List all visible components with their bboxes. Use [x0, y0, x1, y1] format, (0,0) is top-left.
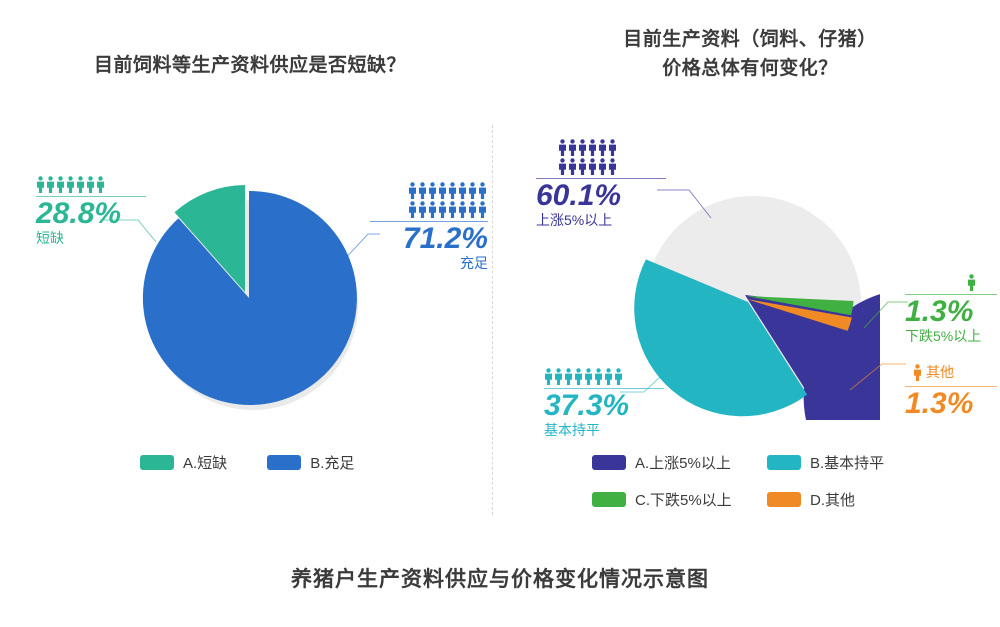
legend-item-increase[interactable]: A.上涨5%以上 [592, 452, 767, 473]
person-icon [594, 368, 603, 385]
person-icon [86, 176, 95, 193]
left-pie-svg [135, 180, 365, 415]
person-icon [574, 368, 583, 385]
person-icon [578, 158, 587, 175]
callout-percent: 1.3% [905, 389, 997, 419]
right-chart-title-line1: 目前生产资料（饲料、仔猪） [530, 26, 970, 55]
person-icon [418, 201, 427, 218]
person-icon [598, 158, 607, 175]
callout-sublabel: 上涨5%以上 [536, 211, 666, 231]
person-icon [588, 139, 597, 156]
person-icon [554, 368, 563, 385]
legend-swatch-increase [592, 455, 626, 470]
right-chart-title: 目前生产资料（饲料、仔猪） 价格总体有何变化？ [530, 26, 970, 83]
legend-item-other[interactable]: D.其他 [767, 489, 942, 510]
leader-line-sufficient [340, 228, 382, 264]
person-icon [568, 158, 577, 175]
legend-swatch-sufficient [267, 455, 301, 470]
legend-row: C.下跌5%以上 D.其他 [592, 489, 942, 510]
legend-label-sufficient: B.充足 [310, 452, 354, 473]
person-icon [544, 368, 553, 385]
person-icon [598, 139, 607, 156]
leader-line-shortage [98, 218, 158, 252]
left-pie-chart [135, 180, 365, 415]
person-icon [448, 182, 457, 199]
callout-sublabel: 下跌5%以上 [905, 327, 997, 347]
callout-rule [905, 386, 997, 387]
person-icon [408, 201, 417, 218]
infographic-canvas: 目前饲料等生产资料供应是否短缺？ 目前生产资料（饲料、仔猪） 价格总体有何变化？… [0, 0, 1000, 627]
pictogram-row [36, 176, 146, 193]
left-legend: A.短缺 B.充足 [140, 452, 394, 473]
leader-line-stable [618, 358, 680, 396]
pictogram-row [558, 139, 666, 156]
person-icon [428, 182, 437, 199]
person-icon [558, 139, 567, 156]
figure-caption: 养猪户生产资料供应与价格变化情况示意图 [0, 563, 1000, 593]
leader-line-other [848, 350, 908, 392]
pictogram-row [913, 364, 923, 381]
pictogram-group-decrease [905, 274, 997, 291]
person-icon [588, 158, 597, 175]
pictogram-row [370, 201, 488, 218]
legend-swatch-stable [767, 455, 801, 470]
person-icon [66, 176, 75, 193]
legend-item-sufficient[interactable]: B.充足 [267, 452, 354, 473]
person-icon [458, 201, 467, 218]
legend-label-shortage: A.短缺 [183, 452, 227, 473]
person-icon [478, 182, 487, 199]
person-icon [608, 158, 617, 175]
person-icon [408, 182, 417, 199]
person-icon [578, 139, 587, 156]
left-chart-title: 目前饲料等生产资料供应是否短缺？ [30, 52, 470, 81]
person-icon [36, 176, 45, 193]
person-icon [438, 201, 447, 218]
callout-rule [905, 294, 997, 295]
person-icon [56, 176, 65, 193]
person-icon [428, 201, 437, 218]
person-icon [564, 368, 573, 385]
person-icon [468, 182, 477, 199]
leader-line-decrease [862, 296, 910, 330]
pictogram-row [370, 182, 488, 199]
legend-item-stable[interactable]: B.基本持平 [767, 452, 942, 473]
person-icon [568, 139, 577, 156]
legend-label-decrease: C.下跌5%以上 [635, 489, 732, 510]
callout-sublabel: 充足 [370, 254, 488, 274]
person-icon [46, 176, 55, 193]
pictogram-row [558, 158, 666, 175]
person-icon [418, 182, 427, 199]
callout-rule [36, 196, 146, 197]
callout-sublabel: 基本持平 [544, 421, 664, 441]
legend-row: A.短缺 B.充足 [140, 452, 394, 473]
person-icon [967, 274, 976, 291]
person-icon [478, 201, 487, 218]
panel-divider [492, 125, 493, 515]
legend-label-increase: A.上涨5%以上 [635, 452, 731, 473]
person-icon [458, 182, 467, 199]
callout-percent: 1.3% [905, 297, 997, 327]
person-icon [76, 176, 85, 193]
person-icon [448, 201, 457, 218]
legend-swatch-shortage [140, 455, 174, 470]
right-chart-title-line2: 价格总体有何变化？ [530, 55, 970, 84]
callout-rule [536, 178, 666, 179]
left-pie-slice-sufficient [143, 191, 357, 405]
callout-right-decrease: 1.3% 下跌5%以上 [905, 274, 997, 347]
pictogram-group-shortage [36, 176, 146, 193]
callout-left-sufficient: 71.2% 充足 [370, 182, 488, 274]
legend-item-shortage[interactable]: A.短缺 [140, 452, 227, 473]
callout-percent: 71.2% [370, 224, 488, 254]
legend-item-decrease[interactable]: C.下跌5%以上 [592, 489, 767, 510]
callout-right-other: 其他 1.3% [905, 363, 997, 419]
callout-right-increase: 60.1% 上涨5%以上 [536, 139, 666, 231]
legend-label-other: D.其他 [810, 489, 855, 510]
person-icon [96, 176, 105, 193]
pictogram-row [967, 274, 997, 291]
legend-swatch-decrease [592, 492, 626, 507]
person-icon [604, 368, 613, 385]
callout-rule [370, 221, 488, 222]
leader-line-increase [655, 188, 715, 228]
person-icon [468, 201, 477, 218]
person-icon [558, 158, 567, 175]
pictogram-group-sufficient [370, 182, 488, 218]
callout-sublabel: 其他 [926, 363, 954, 383]
person-icon [608, 139, 617, 156]
callout-other-head: 其他 [905, 363, 997, 383]
person-icon [913, 364, 922, 381]
callout-percent: 60.1% [536, 181, 666, 211]
pictogram-group-other [913, 364, 923, 381]
legend-row: A.上涨5%以上 B.基本持平 [592, 452, 942, 473]
right-legend: A.上涨5%以上 B.基本持平 C.下跌5%以上 D.其他 [592, 452, 942, 510]
legend-swatch-other [767, 492, 801, 507]
legend-label-stable: B.基本持平 [810, 452, 884, 473]
person-icon [438, 182, 447, 199]
person-icon [584, 368, 593, 385]
pictogram-group-increase [536, 139, 666, 175]
